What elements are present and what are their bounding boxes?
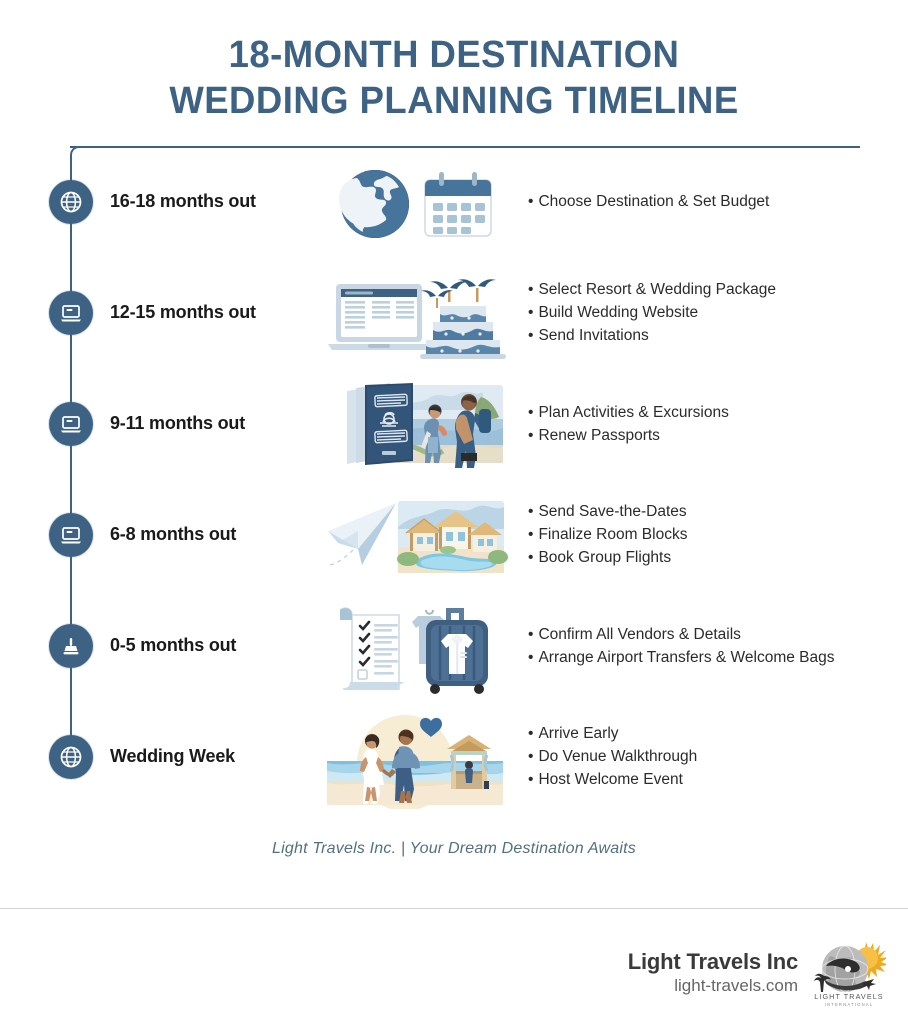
globe-icon	[49, 180, 93, 224]
timeline-row-label: Wedding Week	[110, 746, 320, 767]
bullet-item: •Host Welcome Event	[528, 768, 894, 791]
bullet-item: •Choose Destination & Set Budget	[528, 190, 894, 213]
bullet-text: Select Resort & Wedding Package	[538, 281, 776, 298]
page-title: 18-Month Destination Wedding Planning Ti…	[0, 0, 908, 124]
timeline-row[interactable]: 9-11 months out	[0, 368, 908, 479]
brand-url[interactable]: light-travels.com	[628, 975, 798, 997]
laptop-cake-illustration	[320, 263, 510, 363]
bullet-text: Build Wedding Website	[538, 304, 698, 321]
bullet-text: Finalize Room Blocks	[538, 526, 687, 543]
timeline-row[interactable]: Wedding Week	[0, 701, 908, 812]
bullet-item: •Confirm All Vendors & Details	[528, 623, 894, 646]
timeline-row-bullets: •Confirm All Vendors & Details •Arrange …	[528, 623, 908, 669]
bullet-item: •Renew Passports	[528, 424, 894, 447]
timeline-row-label: 9-11 months out	[110, 413, 320, 434]
bullet-item: •Send Save-the-Dates	[528, 500, 894, 523]
bullet-text: Arrange Airport Transfers & Welcome Bags	[538, 649, 834, 666]
title-line-2: Wedding Planning Timeline	[18, 78, 890, 124]
paper-plane-resort-illustration	[320, 485, 510, 585]
timeline-row-label: 6-8 months out	[110, 524, 320, 545]
bullet-text: Send Invitations	[538, 327, 648, 344]
light-travels-globe-sun-logo: LIGHT TRAVELS INTERNATIONAL	[812, 936, 886, 1010]
bullet-text: Choose Destination & Set Budget	[538, 193, 769, 210]
bullet-text: Arrive Early	[538, 725, 618, 742]
timeline-row-bullets: •Choose Destination & Set Budget	[528, 190, 908, 213]
checklist-suitcase-illustration	[320, 596, 510, 696]
footer-divider	[0, 908, 908, 909]
bullet-text: Send Save-the-Dates	[538, 503, 686, 520]
laptop-icon	[49, 291, 93, 335]
timeline-row[interactable]: 12-15 months out	[0, 257, 908, 368]
timeline-row[interactable]: 0-5 months out	[0, 590, 908, 701]
laptop-icon	[49, 513, 93, 557]
passport-travelers-illustration	[320, 374, 510, 474]
bullet-text: Host Welcome Event	[538, 771, 682, 788]
bullet-text: Confirm All Vendors & Details	[538, 626, 740, 643]
logo-wordmark: LIGHT TRAVELS	[814, 992, 883, 1001]
bullet-item: •Send Invitations	[528, 324, 894, 347]
bullet-item: •Select Resort & Wedding Package	[528, 278, 894, 301]
logo-subtext: INTERNATIONAL	[825, 1002, 874, 1007]
timeline-row[interactable]: 6-8 months out	[0, 479, 908, 590]
laptop-icon	[49, 402, 93, 446]
footer-brand-text: Light Travels Inc light-travels.com	[628, 949, 798, 997]
bullet-item: •Book Group Flights	[528, 546, 894, 569]
stamp-icon	[49, 624, 93, 668]
timeline-row-bullets: •Arrive Early •Do Venue Walkthrough •Hos…	[528, 722, 908, 791]
infographic-page: 18-Month Destination Wedding Planning Ti…	[0, 0, 908, 1024]
timeline-row-label: 16-18 months out	[110, 191, 320, 212]
bullet-item: •Arrange Airport Transfers & Welcome Bag…	[528, 646, 894, 669]
title-line-1: 18-Month Destination	[18, 32, 890, 78]
timeline-row-bullets: •Plan Activities & Excursions •Renew Pas…	[528, 401, 908, 447]
timeline: 16-18 months out	[0, 146, 908, 822]
bullet-text: Renew Passports	[538, 427, 659, 444]
bullet-item: •Plan Activities & Excursions	[528, 401, 894, 424]
bullet-text: Book Group Flights	[538, 549, 671, 566]
brand-name: Light Travels Inc	[628, 949, 798, 975]
bullet-item: •Do Venue Walkthrough	[528, 745, 894, 768]
globe-calendar-illustration	[320, 152, 510, 252]
tagline: Light Travels Inc. | Your Dream Destinat…	[0, 840, 908, 858]
bullet-item: •Arrive Early	[528, 722, 894, 745]
timeline-row-label: 0-5 months out	[110, 635, 320, 656]
beach-couple-gazebo-illustration	[320, 707, 510, 807]
bullet-text: Plan Activities & Excursions	[538, 404, 728, 421]
timeline-row[interactable]: 16-18 months out	[0, 146, 908, 257]
timeline-row-bullets: •Select Resort & Wedding Package •Build …	[528, 278, 908, 347]
bullet-item: •Build Wedding Website	[528, 301, 894, 324]
footer: Light Travels Inc light-travels.com	[0, 930, 908, 1016]
timeline-row-label: 12-15 months out	[110, 302, 320, 323]
globe-icon	[49, 735, 93, 779]
timeline-row-bullets: •Send Save-the-Dates •Finalize Room Bloc…	[528, 500, 908, 569]
bullet-item: •Finalize Room Blocks	[528, 523, 894, 546]
bullet-text: Do Venue Walkthrough	[538, 748, 697, 765]
